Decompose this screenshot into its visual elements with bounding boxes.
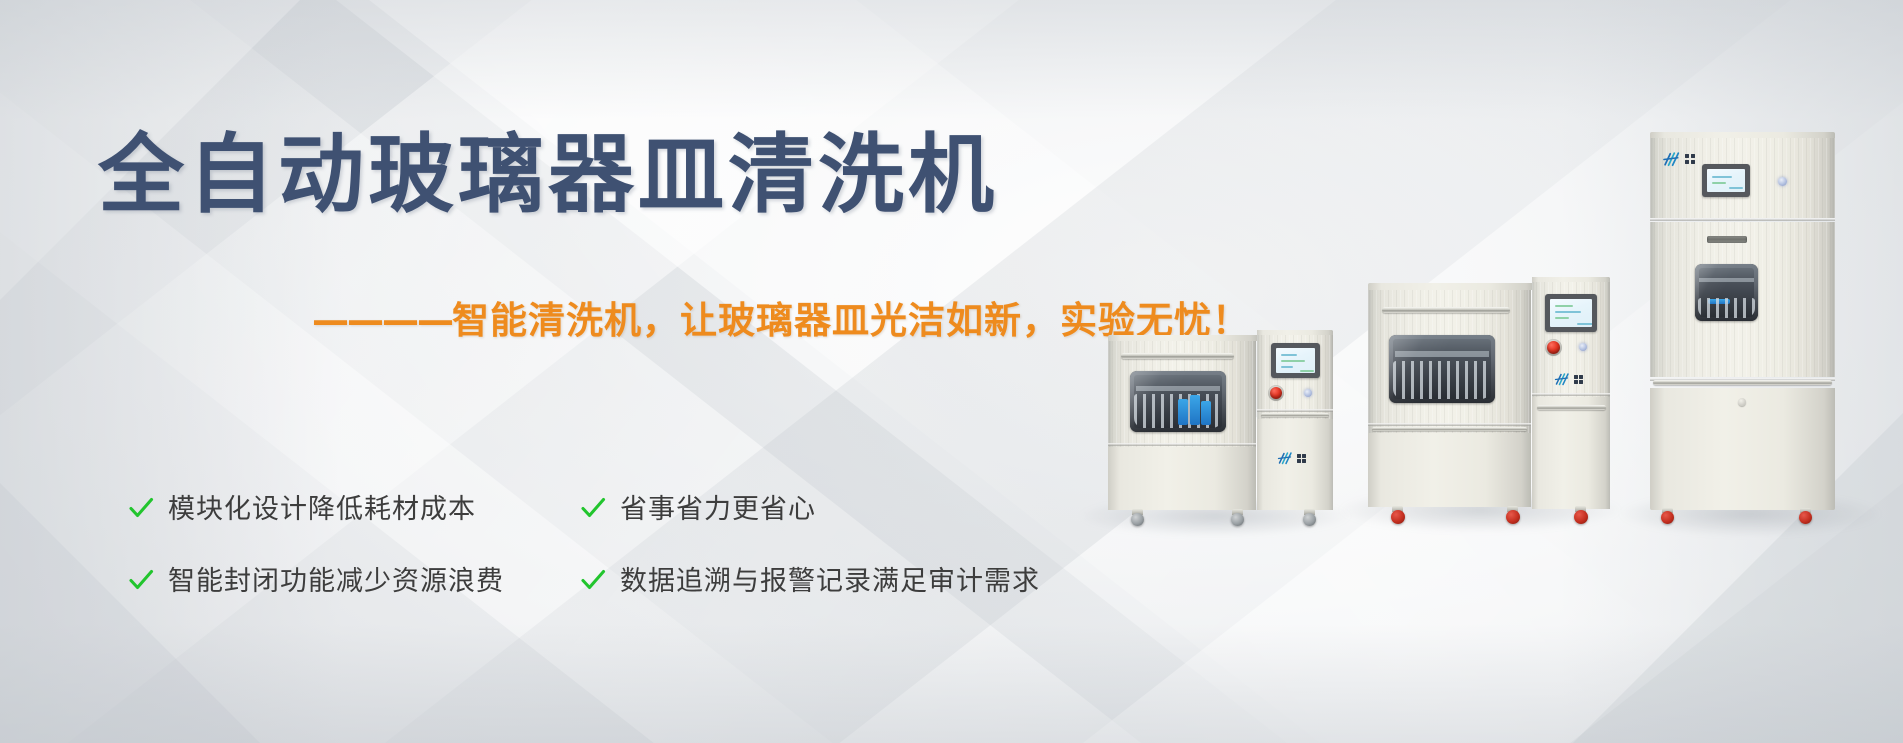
- machine3-power-indicator[interactable]: [1778, 177, 1787, 186]
- machine2-tower-lower-door: [1532, 397, 1610, 509]
- machine3-lower-door: [1650, 388, 1835, 510]
- check-icon: [128, 495, 154, 521]
- machine2-emergency-stop-button[interactable]: [1547, 341, 1560, 354]
- list-item-label: 模块化设计降低耗材成本: [168, 487, 476, 526]
- machine2-seam: [1368, 423, 1531, 426]
- machine3-touchscreen[interactable]: [1702, 164, 1750, 197]
- machine2-top-cap: [1368, 283, 1536, 290]
- machine3-screen-content: [1707, 169, 1745, 192]
- machine1-tower-handle: [1261, 413, 1329, 417]
- machine3-logo-dots: [1685, 154, 1696, 165]
- machine3-caster-left: [1662, 508, 1674, 524]
- machine3-caster-right: [1800, 508, 1812, 524]
- machine1-caster-right: [1304, 509, 1316, 526]
- machine1-lower-panel: [1108, 447, 1256, 510]
- list-item-label: 智能封闭功能减少资源浪费: [168, 559, 504, 598]
- machine1-door-handle: [1121, 353, 1234, 359]
- machine1-seam: [1108, 443, 1256, 446]
- machine2-window-sheen: [1389, 335, 1495, 403]
- machine3-vent-slot: [1707, 236, 1747, 243]
- machine1-screen-content: [1276, 348, 1315, 373]
- product-image-group: [1090, 0, 1903, 743]
- machine3-brand-logo: [1662, 152, 1696, 167]
- list-item-label: 省事省力更省心: [620, 487, 816, 526]
- check-icon: [580, 567, 606, 593]
- machine1-caster-mid: [1232, 509, 1244, 526]
- check-icon: [128, 567, 154, 593]
- machine1-logo-dots: [1297, 454, 1306, 463]
- machine3-window-sheen: [1695, 264, 1758, 321]
- list-item: 数据追溯与报警记录满足审计需求: [580, 559, 1068, 598]
- machine1-tower-seam: [1257, 409, 1333, 412]
- machine1-caster-left: [1132, 509, 1144, 526]
- machine2-door-handle: [1382, 307, 1510, 313]
- subtitle-dash-rule: ————: [312, 299, 452, 342]
- machine1-emergency-stop-button[interactable]: [1270, 387, 1282, 399]
- machine2-caster-mid: [1507, 506, 1520, 524]
- machine3-viewing-window: [1695, 264, 1758, 321]
- list-item: 模块化设计降低耗材成本: [128, 487, 580, 526]
- machine1-touchscreen[interactable]: [1271, 343, 1320, 378]
- product-tall-column-glassware-washer: [1650, 130, 1835, 513]
- machine1-top-cap: [1108, 335, 1260, 341]
- machine2-caster-left: [1392, 506, 1405, 524]
- machine2-touchscreen[interactable]: [1545, 294, 1597, 332]
- machine2-lower-handle: [1372, 427, 1527, 431]
- machine1-brand-logo: [1277, 452, 1306, 465]
- machine1-tower-cap: [1257, 330, 1333, 335]
- list-item: 省事省力更省心: [580, 487, 1068, 526]
- machine2-brand-logo: [1554, 373, 1583, 386]
- copy-block: 全自动玻璃器皿清洗机 ————智能清洗机，让玻璃器皿光洁如新，实验无忧！ 模块化…: [0, 0, 1100, 743]
- page-title: 全自动玻璃器皿清洗机: [98, 104, 998, 229]
- machine2-power-indicator[interactable]: [1579, 343, 1587, 351]
- product-freestanding-glassware-washer: [1368, 277, 1610, 513]
- check-icon: [580, 495, 606, 521]
- product-undercounter-glassware-washer: [1108, 330, 1333, 513]
- feature-list: 模块化设计降低耗材成本 省事省力更省心 智能封闭功能减少资源浪费: [128, 470, 1068, 614]
- machine1-viewing-window: [1130, 371, 1226, 432]
- machine2-lower-panel: [1368, 433, 1531, 507]
- machine2-tower-seam: [1532, 393, 1610, 396]
- machine3-top-cap: [1650, 132, 1835, 138]
- machine2-tower-handle: [1537, 405, 1606, 410]
- product-hero-banner: 全自动玻璃器皿清洗机 ————智能清洗机，让玻璃器皿光洁如新，实验无忧！ 模块化…: [0, 0, 1903, 743]
- machine2-tower-cap: [1532, 277, 1610, 282]
- machine3-upper-seam: [1650, 218, 1835, 221]
- machine3-lower-handle: [1653, 380, 1832, 385]
- machine1-window-sheen: [1130, 371, 1226, 432]
- list-item: 智能封闭功能减少资源浪费: [128, 559, 580, 598]
- machine2-screen-content: [1550, 299, 1592, 327]
- list-item-label: 数据追溯与报警记录满足审计需求: [620, 559, 1040, 598]
- machine2-caster-right: [1575, 506, 1588, 524]
- machine2-logo-dots: [1574, 375, 1583, 384]
- machine1-power-indicator[interactable]: [1304, 389, 1312, 397]
- machine3-door-latch[interactable]: [1738, 398, 1746, 406]
- machine2-viewing-window: [1389, 335, 1495, 403]
